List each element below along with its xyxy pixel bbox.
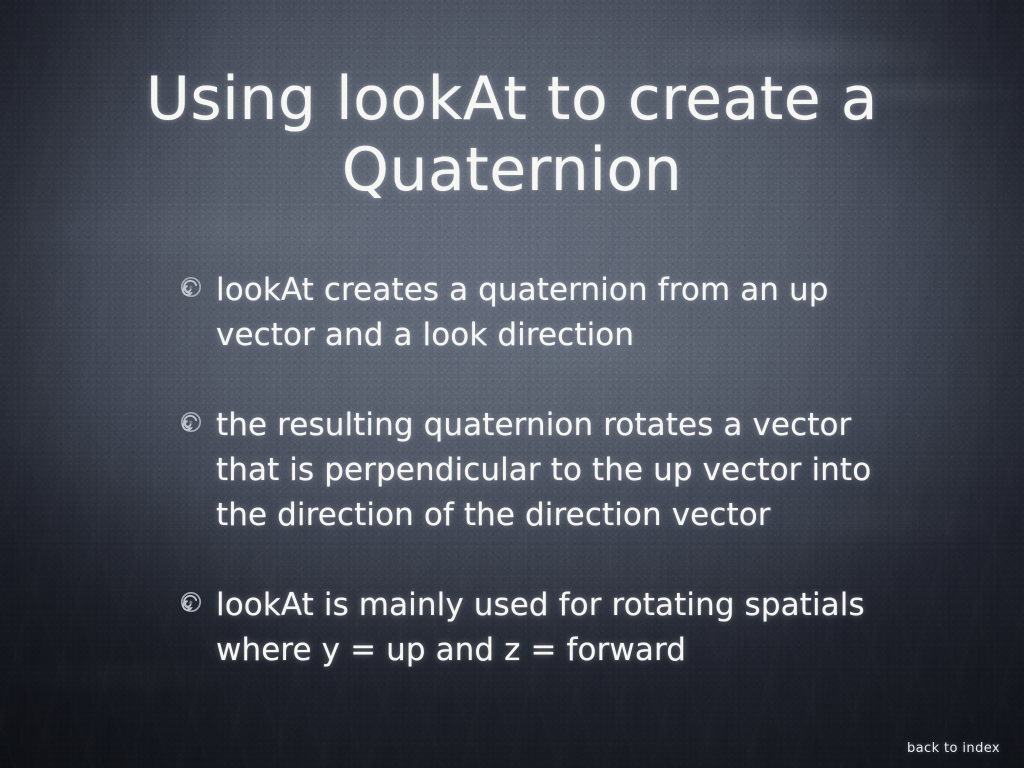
slide-title: Using lookAt to create a Quaternion: [0, 64, 1024, 206]
bullet-text: lookAt is mainly used for rotating spati…: [216, 583, 950, 672]
bullet-list: lookAt creates a quaternion from an up v…: [180, 268, 950, 672]
bullet-item: lookAt creates a quaternion from an up v…: [180, 268, 950, 357]
spiral-swirl-icon: [180, 276, 202, 298]
bullet-item: the resulting quaternion rotates a vecto…: [180, 403, 950, 537]
bullet-item: lookAt is mainly used for rotating spati…: [180, 583, 950, 672]
spiral-swirl-icon: [180, 411, 202, 433]
spiral-swirl-icon: [180, 591, 202, 613]
slide-content: Using lookAt to create a Quaternion look…: [0, 0, 1024, 768]
bullet-text: lookAt creates a quaternion from an up v…: [216, 268, 950, 357]
back-to-index-link[interactable]: back to index: [907, 741, 1000, 756]
chalkboard-slide: Using lookAt to create a Quaternion look…: [0, 0, 1024, 768]
bullet-text: the resulting quaternion rotates a vecto…: [216, 403, 950, 537]
